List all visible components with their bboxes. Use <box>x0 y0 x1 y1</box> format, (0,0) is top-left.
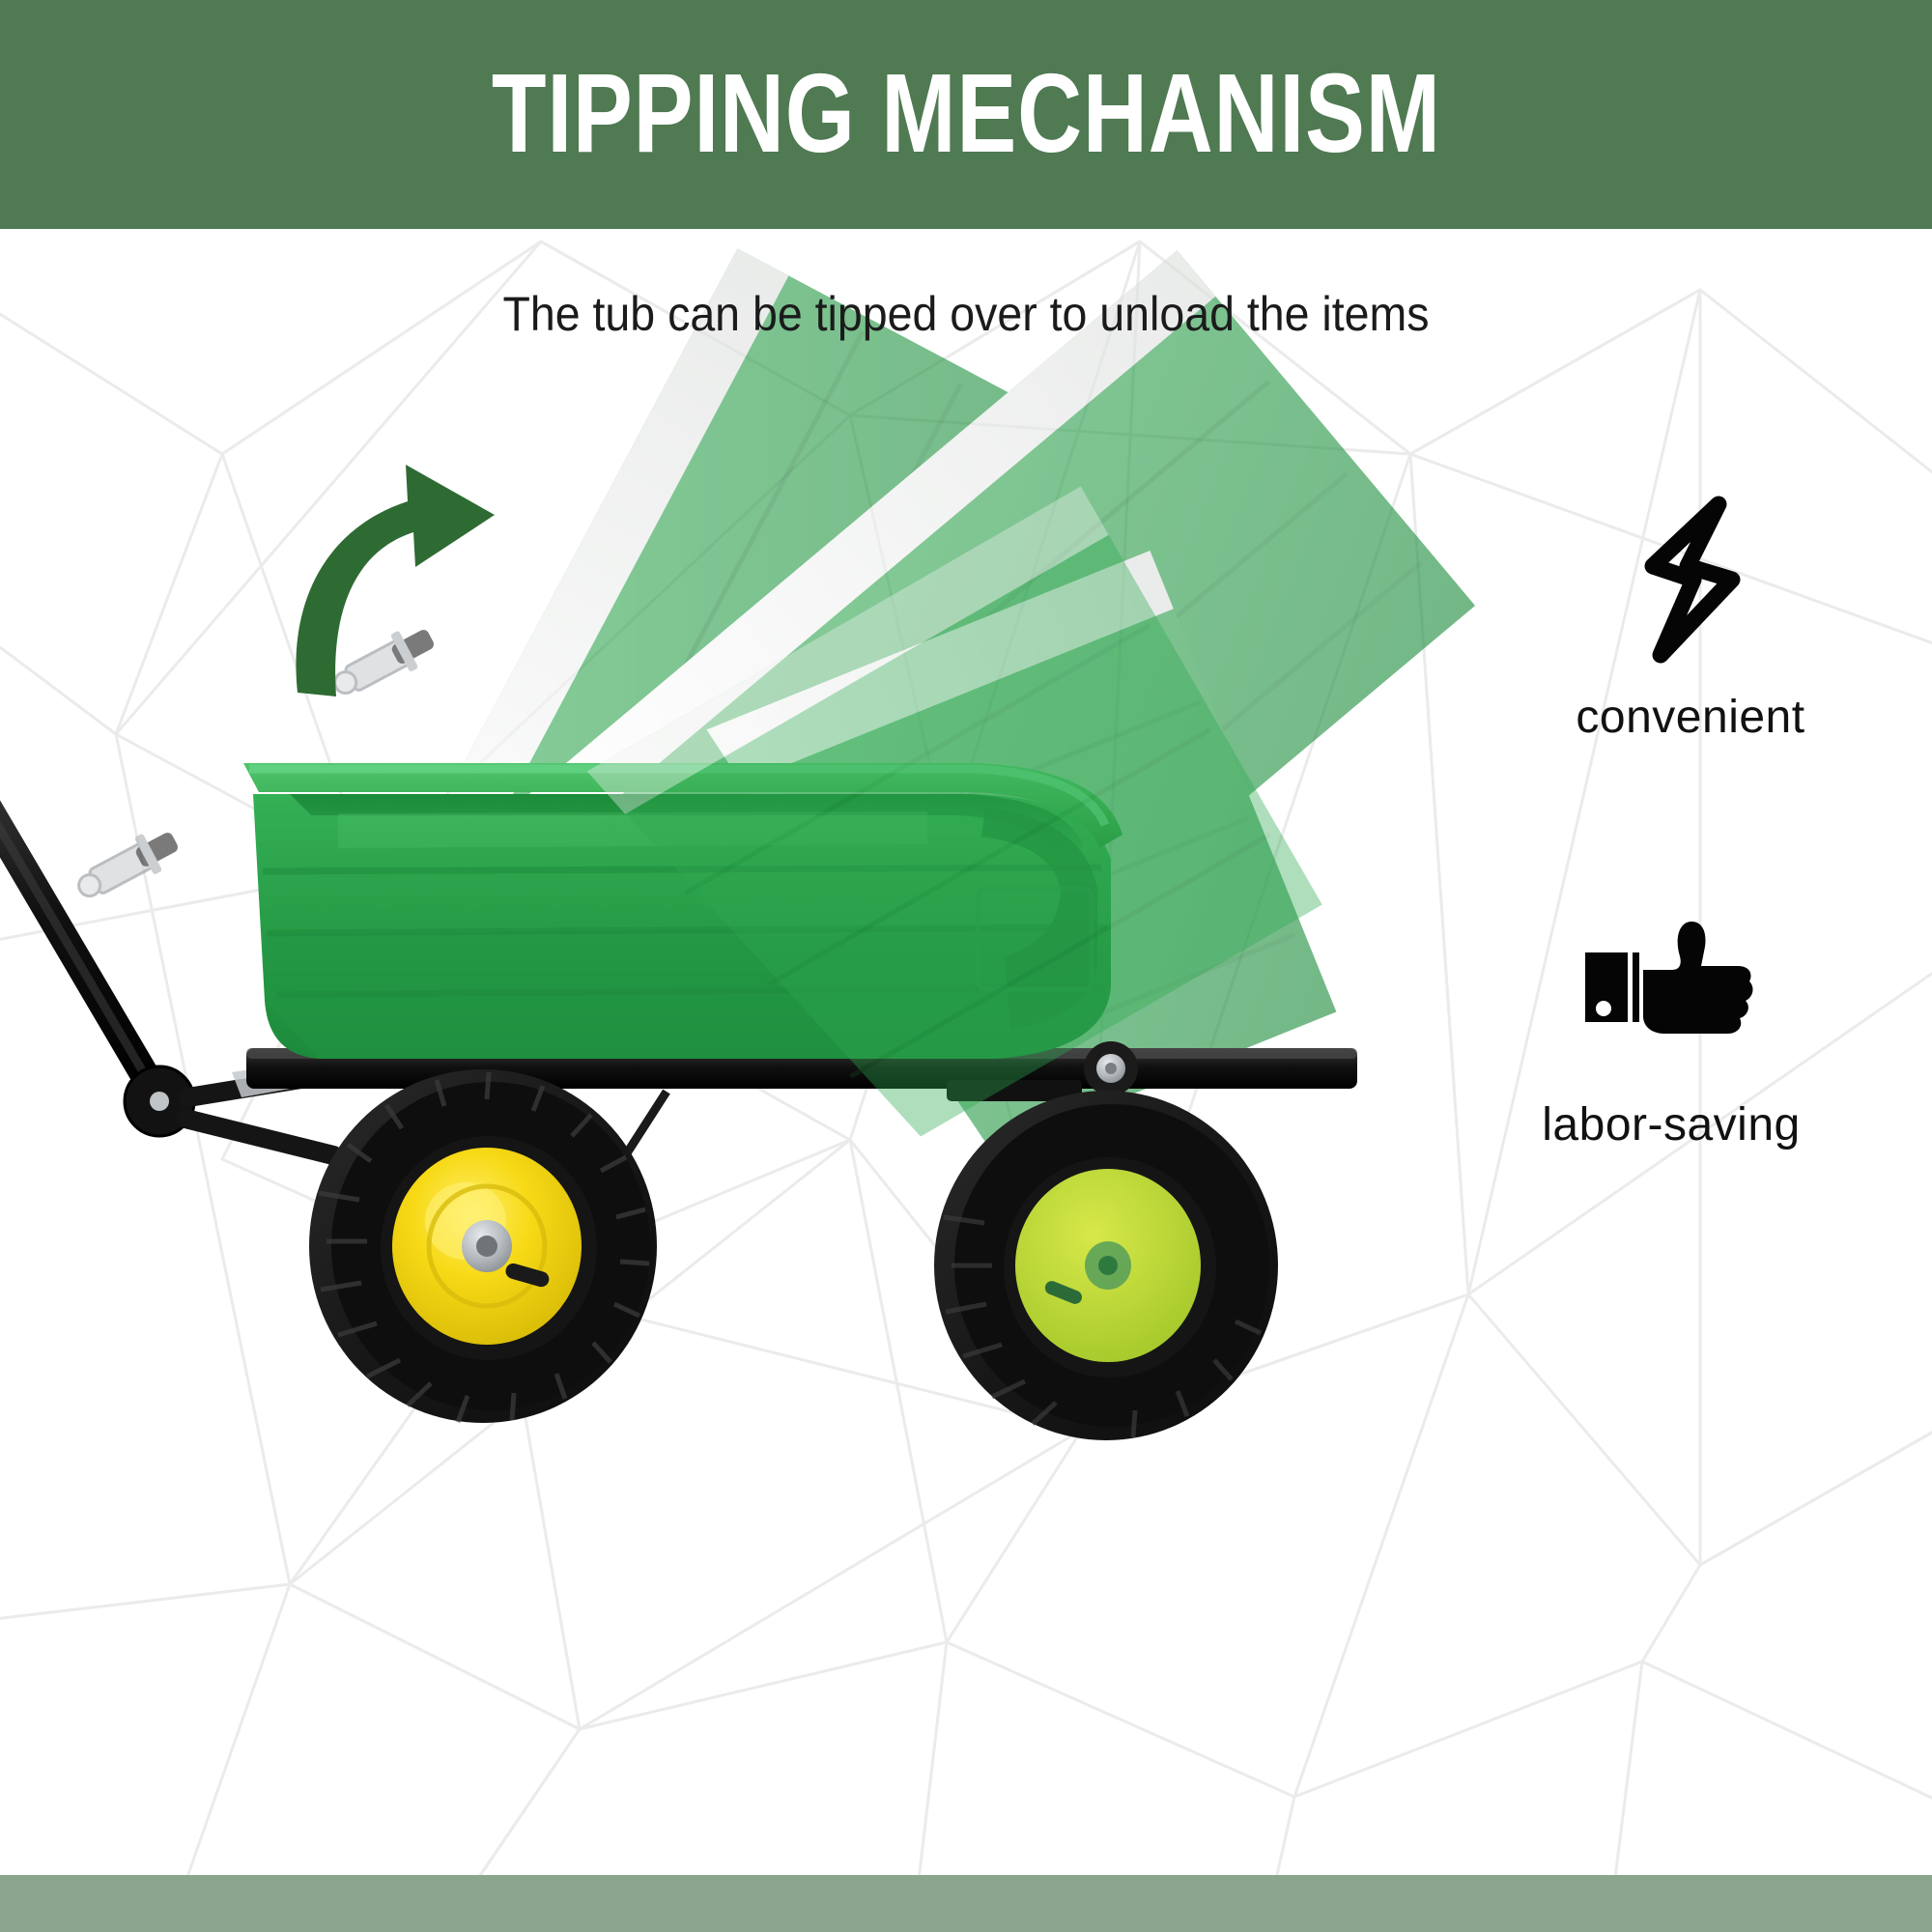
subtitle-text: The tub can be tipped over to unload the… <box>68 286 1864 342</box>
tow-handle-bar <box>0 763 155 1092</box>
thumbs-up-icon <box>1579 916 1763 1061</box>
page-title: TIPPING MECHANISM <box>492 57 1441 169</box>
product-illustration <box>0 222 1507 1874</box>
feature-label-labor-saving: labor-saving <box>1468 1098 1874 1151</box>
hitch-arm-lower <box>185 1119 333 1155</box>
footer-band <box>0 1875 1932 1932</box>
rear-wheel <box>934 1091 1278 1440</box>
lightning-bolt-icon-wrap <box>1488 491 1893 669</box>
thumbs-up-icon-wrap <box>1468 898 1874 1077</box>
infographic-page: TIPPING MECHANISM The tub can be tipped … <box>0 0 1932 1932</box>
feature-label-convenient: convenient <box>1488 691 1893 744</box>
garden-dump-cart-graphic <box>0 222 1507 1874</box>
curved-arrow-icon <box>270 440 560 700</box>
feature-labor-saving: labor-saving <box>1468 898 1874 1151</box>
header-band: TIPPING MECHANISM <box>0 0 1932 229</box>
front-wheel <box>309 1069 657 1423</box>
feature-convenient: convenient <box>1488 491 1893 744</box>
lightning-bolt-icon <box>1618 491 1763 669</box>
